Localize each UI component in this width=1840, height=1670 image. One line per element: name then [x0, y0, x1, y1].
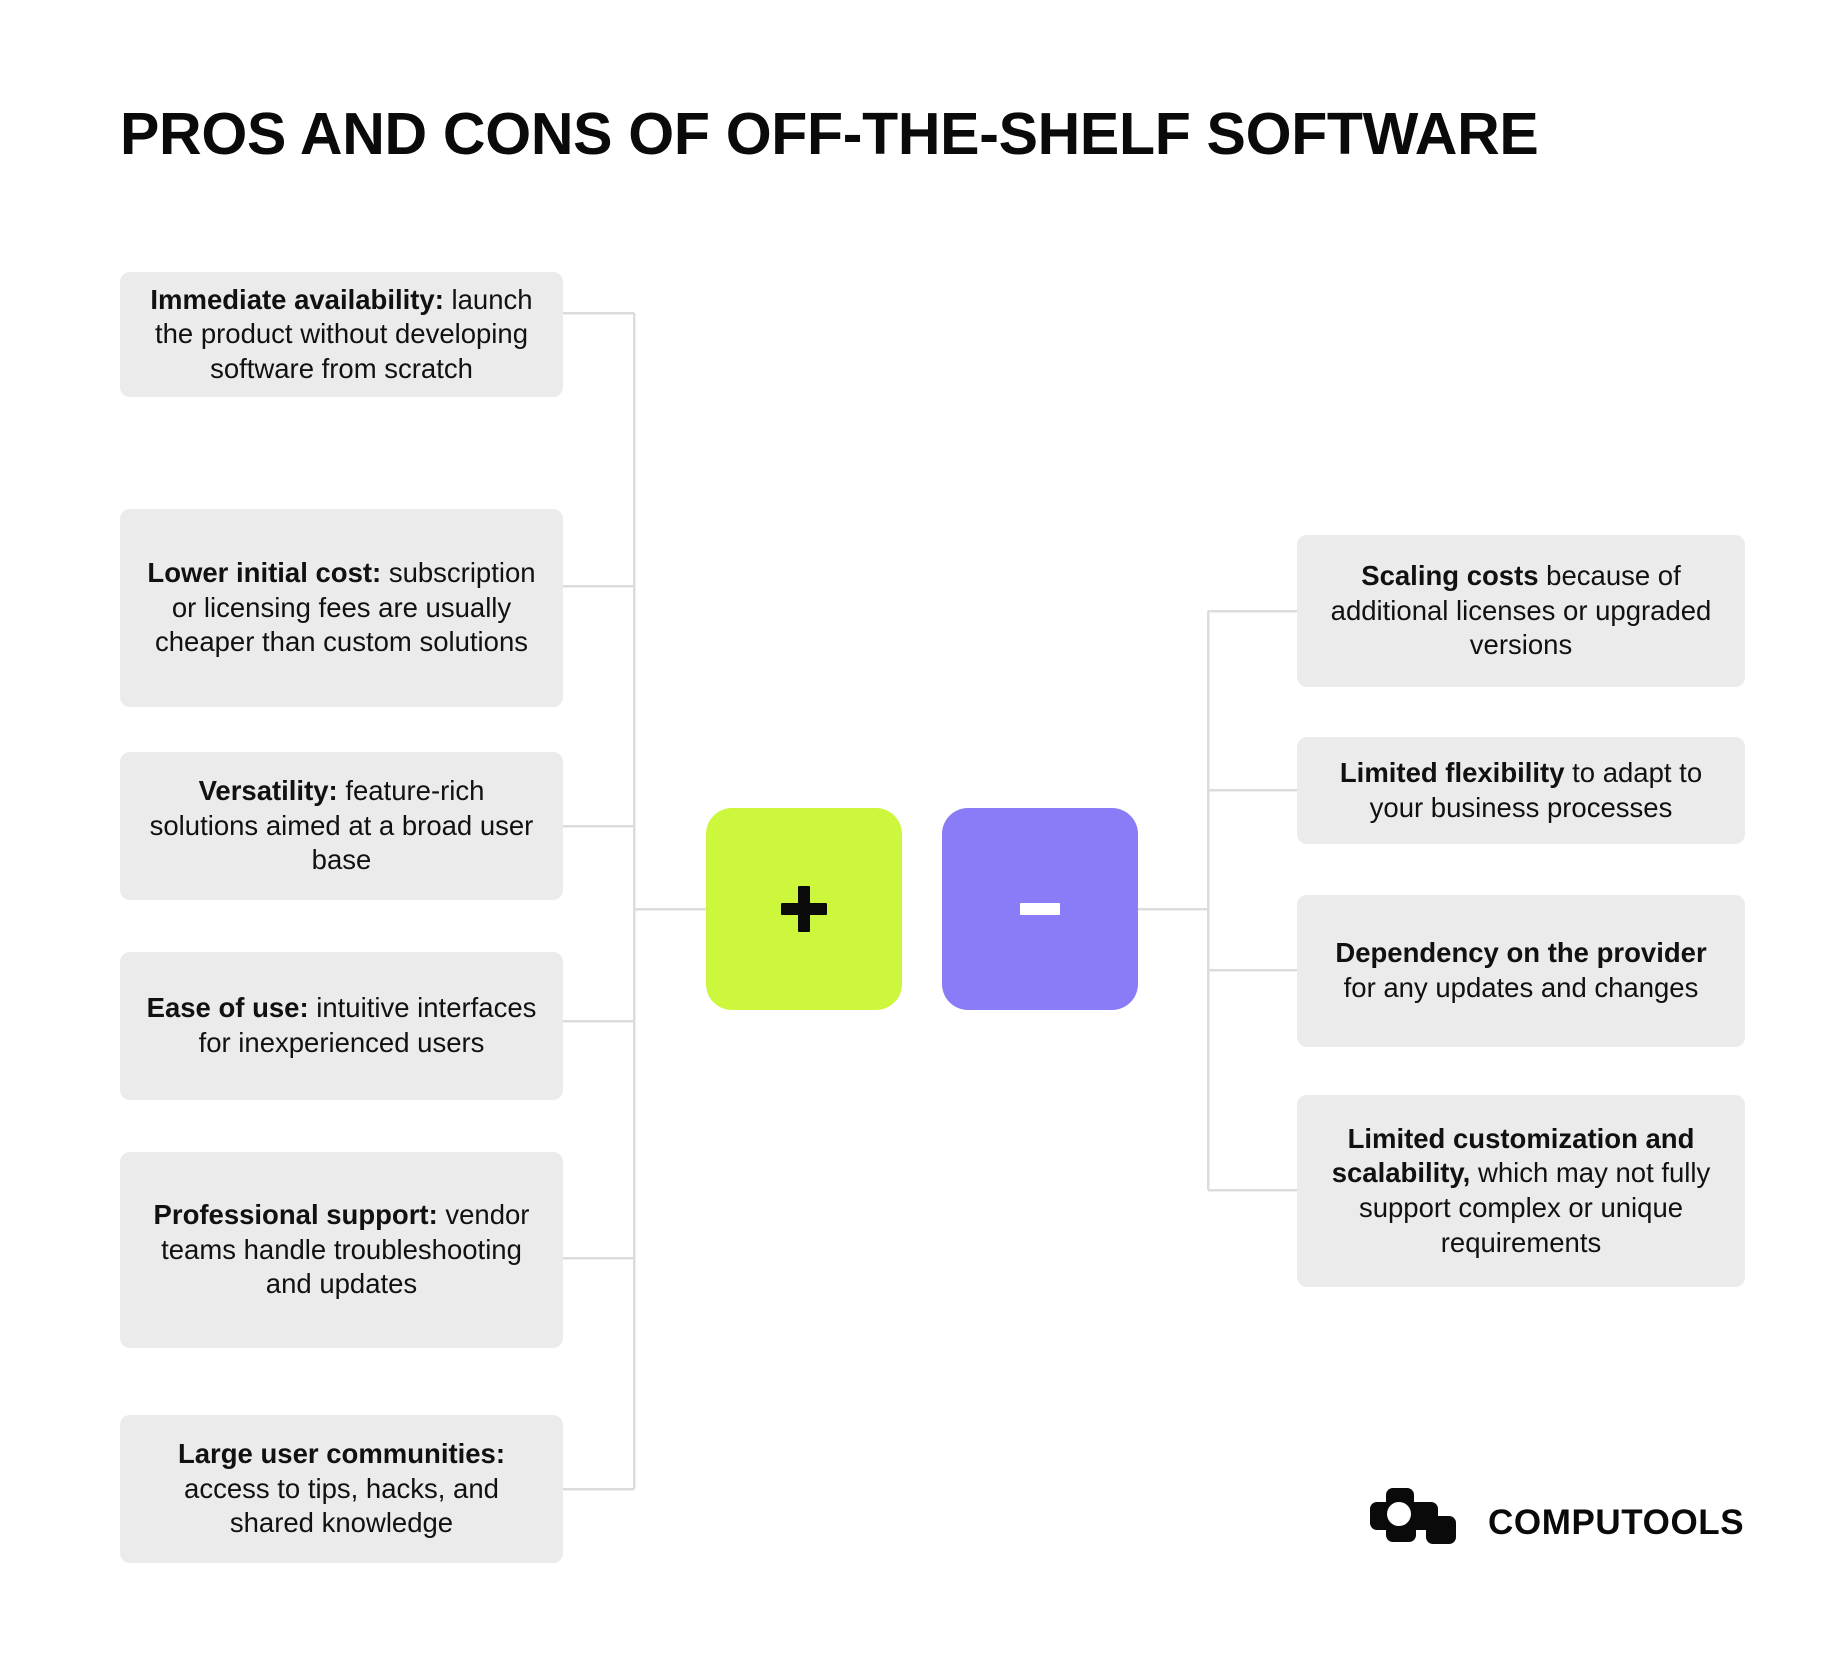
- pros-item-6-text: Large user communities: access to tips, …: [142, 1437, 541, 1541]
- cons-item-4[interactable]: Limited customization and scalability, w…: [1297, 1095, 1745, 1287]
- pros-item-3-text: Versatility: feature-rich solutions aime…: [142, 774, 541, 878]
- cons-item-3[interactable]: Dependency on the provider for any updat…: [1297, 895, 1745, 1047]
- cons-item-4-text: Limited customization and scalability, w…: [1319, 1122, 1723, 1261]
- infographic-canvas: PROS AND CONS OF OFF-THE-SHELF SOFTWARE: [0, 0, 1840, 1670]
- pros-item-3[interactable]: Versatility: feature-rich solutions aime…: [120, 752, 563, 900]
- pros-item-5[interactable]: Professional support: vendor teams handl…: [120, 1152, 563, 1348]
- pros-item-5-text: Professional support: vendor teams handl…: [142, 1198, 541, 1302]
- pros-plus-tile[interactable]: [706, 808, 902, 1010]
- cons-minus-tile[interactable]: [942, 808, 1138, 1010]
- pros-item-2[interactable]: Lower initial cost: subscription or lice…: [120, 509, 563, 707]
- pros-item-4-text: Ease of use: intuitive interfaces for in…: [142, 991, 541, 1060]
- page-title: PROS AND CONS OF OFF-THE-SHELF SOFTWARE: [120, 104, 1538, 166]
- computools-logo-icon: [1370, 1488, 1466, 1558]
- pros-item-4[interactable]: Ease of use: intuitive interfaces for in…: [120, 952, 563, 1100]
- plus-icon: [781, 886, 827, 932]
- brand-logo[interactable]: COMPUTOOLS: [1370, 1488, 1744, 1558]
- pros-item-6[interactable]: Large user communities: access to tips, …: [120, 1415, 563, 1563]
- cons-item-2-text: Limited flexibility to adapt to your bus…: [1319, 756, 1723, 825]
- cons-item-1[interactable]: Scaling costs because of additional lice…: [1297, 535, 1745, 687]
- cons-item-1-text: Scaling costs because of additional lice…: [1319, 559, 1723, 663]
- pros-item-1-text: Immediate availability: launch the produ…: [142, 283, 541, 387]
- cons-item-2[interactable]: Limited flexibility to adapt to your bus…: [1297, 737, 1745, 844]
- minus-icon: [1020, 903, 1060, 915]
- pros-item-1[interactable]: Immediate availability: launch the produ…: [120, 272, 563, 397]
- pros-item-2-text: Lower initial cost: subscription or lice…: [142, 556, 541, 660]
- brand-name: COMPUTOOLS: [1488, 1503, 1744, 1543]
- cons-item-3-text: Dependency on the provider for any updat…: [1319, 936, 1723, 1005]
